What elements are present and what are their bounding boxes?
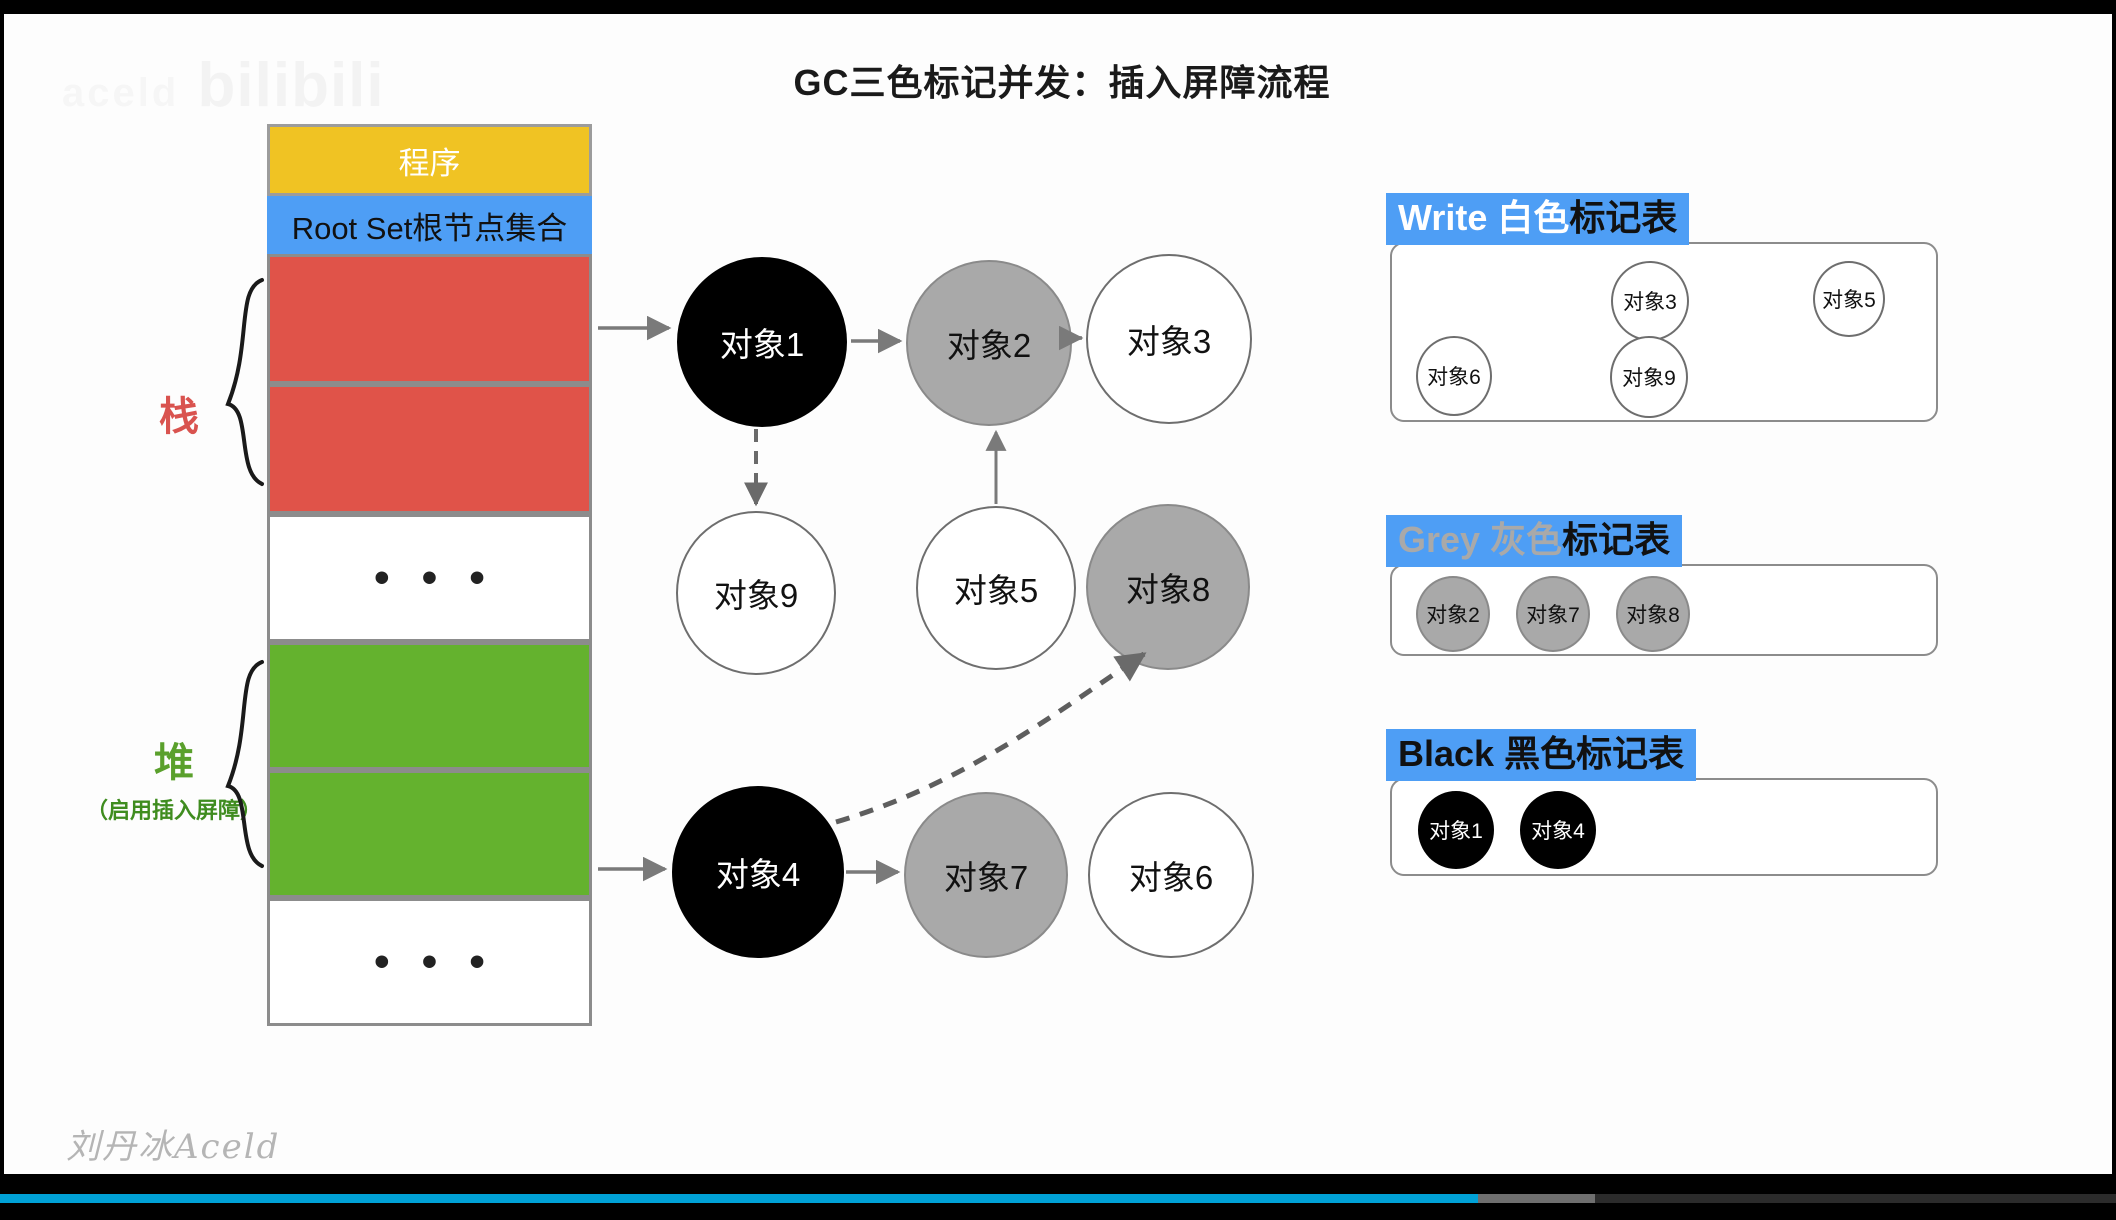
legend-white-title-plain: 标记表 — [1569, 197, 1677, 238]
graph-node-obj9: 对象9 — [676, 511, 836, 675]
legend-black-chip-obj4: 对象4 — [1520, 791, 1596, 869]
graph-node-obj6: 对象6 — [1088, 792, 1254, 958]
page-title: GC三色标记并发：插入屏障流程 — [4, 54, 2116, 106]
legend-white-title-cn: 白色 — [1497, 197, 1569, 238]
legend-white-title: Write 白色标记表 — [1386, 193, 1689, 245]
legend-black-title-plain: 标记表 — [1576, 733, 1684, 774]
memory-block-stack-1 — [267, 254, 592, 384]
graph-node-obj2-label: 对象2 — [947, 319, 1031, 367]
legend-grey-chip-obj7-label: 对象7 — [1526, 599, 1580, 629]
video-progress-played — [0, 1194, 1478, 1203]
memory-block-heap-1 — [267, 642, 592, 770]
graph-node-obj1-label: 对象1 — [720, 318, 804, 366]
legend-white-chip-obj3: 对象3 — [1611, 261, 1689, 341]
slide-canvas: aceld bilibili 刘丹冰Aceld GC三色标记并发：插入屏障流程 … — [4, 14, 2112, 1174]
legend-white-body: 对象3 对象5 对象6 对象9 — [1390, 242, 1938, 422]
legend-grey-chip-obj7: 对象7 — [1516, 576, 1590, 652]
legend-grey-title-en: Grey — [1398, 519, 1490, 560]
graph-node-obj8-label: 对象8 — [1126, 563, 1210, 611]
heap-sublabel: （启用插入屏障） — [74, 793, 274, 825]
graph-node-obj6-label: 对象6 — [1129, 851, 1213, 899]
legend-black-title: Black 黑色标记表 — [1386, 729, 1696, 781]
memory-block-heap-2 — [267, 770, 592, 898]
legend-grey-body: 对象2 对象7 对象8 — [1390, 564, 1938, 656]
legend-grey-title-cn: 灰色 — [1490, 519, 1562, 560]
graph-node-obj7: 对象7 — [904, 792, 1068, 958]
graph-node-obj5-label: 对象5 — [954, 564, 1038, 612]
legend-grey-title-plain: 标记表 — [1562, 519, 1670, 560]
legend-white-chip-obj6-label: 对象6 — [1427, 361, 1481, 391]
memory-block-gap-2: • • • — [267, 898, 592, 1026]
graph-node-obj5: 对象5 — [916, 506, 1076, 670]
legend-white-chip-obj9: 对象9 — [1610, 336, 1688, 418]
stack-label: 栈 — [104, 384, 254, 442]
legend-grey-title: Grey 灰色标记表 — [1386, 515, 1682, 567]
memory-block-rootset-label: Root Set根节点集合 — [270, 199, 589, 251]
legend-black-title-cn: 黑色 — [1504, 733, 1576, 774]
legend-white-chip-obj9-label: 对象9 — [1622, 362, 1676, 392]
graph-node-obj7-label: 对象7 — [944, 851, 1028, 899]
legend-grey-chip-obj8: 对象8 — [1616, 576, 1690, 652]
legend-grey-chip-obj2-label: 对象2 — [1426, 599, 1480, 629]
graph-node-obj1: 对象1 — [677, 257, 847, 427]
video-progress-bar[interactable] — [0, 1194, 2116, 1203]
legend-grey-chip-obj2: 对象2 — [1416, 576, 1490, 652]
memory-block-stack-2 — [267, 384, 592, 514]
memory-block-rootset: Root Set根节点集合 — [267, 196, 592, 254]
memory-block-program-label: 程序 — [270, 127, 589, 193]
author-watermark: 刘丹冰Aceld — [66, 1119, 280, 1168]
graph-node-obj4: 对象4 — [672, 786, 844, 958]
memory-gap-2-ellipsis: • • • — [270, 901, 589, 1023]
legend-black-body: 对象1 对象4 — [1390, 778, 1938, 876]
video-letterbox-top — [0, 0, 2116, 14]
heap-label: 堆 — [74, 739, 274, 787]
stack-brace — [228, 280, 262, 484]
graph-node-obj3: 对象3 — [1086, 254, 1252, 424]
legend-black-title-en: Black — [1398, 733, 1504, 774]
graph-node-obj9-label: 对象9 — [714, 569, 798, 617]
graph-node-obj4-label: 对象4 — [716, 848, 800, 896]
legend-white-chip-obj3-label: 对象3 — [1623, 286, 1677, 316]
graph-node-obj8: 对象8 — [1086, 504, 1250, 670]
legend-white-chip-obj6: 对象6 — [1416, 336, 1492, 416]
memory-gap-1-ellipsis: • • • — [270, 517, 589, 639]
legend-black-chip-obj1-label: 对象1 — [1429, 815, 1483, 845]
legend-white-title-en: Write — [1398, 197, 1497, 238]
legend-white-chip-obj5: 对象5 — [1813, 261, 1885, 337]
video-stage: aceld bilibili 刘丹冰Aceld GC三色标记并发：插入屏障流程 … — [0, 0, 2116, 1206]
legend-black-chip-obj4-label: 对象4 — [1531, 815, 1585, 845]
memory-block-program: 程序 — [267, 124, 592, 196]
memory-block-gap-1: • • • — [267, 514, 592, 642]
legend-grey-chip-obj8-label: 对象8 — [1626, 599, 1680, 629]
legend-white-chip-obj5-label: 对象5 — [1822, 284, 1876, 314]
legend-black-chip-obj1: 对象1 — [1418, 791, 1494, 869]
memory-column: 程序 Root Set根节点集合 • • • • • • — [267, 124, 592, 1026]
graph-node-obj3-label: 对象3 — [1127, 315, 1211, 363]
graph-node-obj2: 对象2 — [906, 260, 1072, 426]
heap-label-group: 堆 （启用插入屏障） — [74, 739, 274, 825]
